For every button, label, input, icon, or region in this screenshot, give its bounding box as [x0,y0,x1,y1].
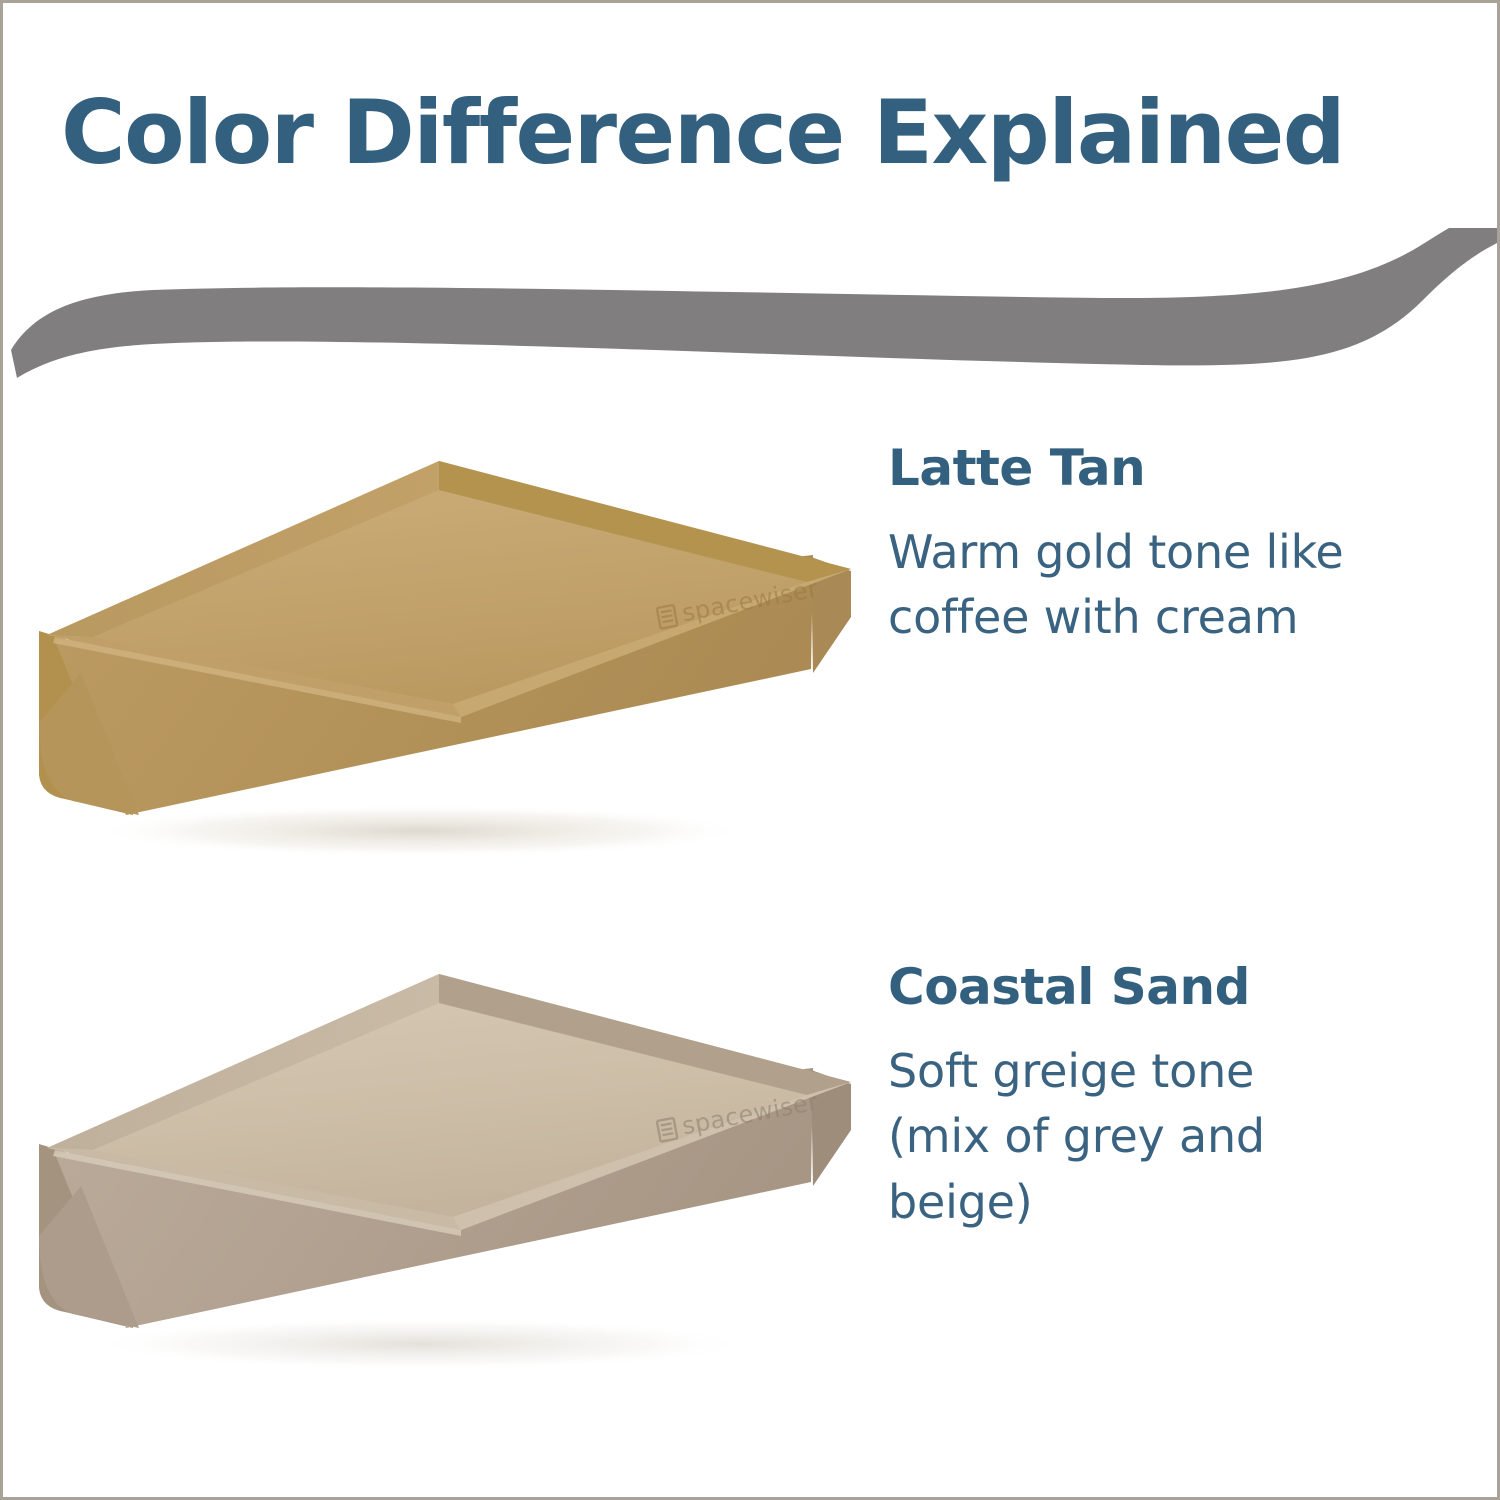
tray-shadow [91,1318,751,1370]
variant-info-coastal-sand: Coastal Sand Soft greige tone (mix of gr… [888,960,1408,1235]
variant-info-latte-tan: Latte Tan Warm gold tone like coffee wit… [888,441,1408,651]
variant-title: Coastal Sand [888,960,1408,1015]
page-title: Color Difference Explained [61,87,1441,179]
tray-illustration: spacewiser [21,423,861,893]
variant-title: Latte Tan [888,441,1408,496]
tray-image-coastal-sand: spacewiser [21,938,861,1408]
infographic-page: Color Difference Explained [0,0,1500,1500]
variant-description: Soft greige tone (mix of grey and beige) [888,1039,1358,1235]
variant-row-latte-tan: spacewiser Latte Tan Warm gold tone like… [3,423,1500,893]
variant-description: Warm gold tone like coffee with cream [888,520,1358,651]
tray-image-latte-tan: spacewiser [21,423,861,893]
variant-row-coastal-sand: spacewiser Coastal Sand Soft greige tone… [3,938,1500,1408]
tray-shadow [91,805,751,857]
swoosh-divider [3,228,1500,388]
tray-illustration: spacewiser [21,938,861,1408]
